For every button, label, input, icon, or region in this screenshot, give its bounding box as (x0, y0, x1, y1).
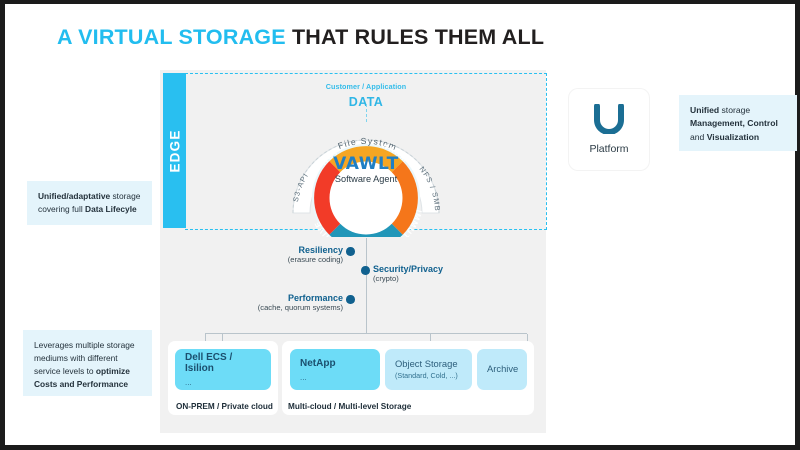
donut-chart-svg: S3-API File System NFS / SMB HOT WARM IM… (283, 103, 449, 237)
feature-dot-resiliency (346, 247, 355, 256)
data-source-subtitle: Customer / Application (326, 82, 407, 91)
feature-sub-security: (crypto) (373, 275, 533, 284)
callout-bottom-bold-4: Costs and Performance (34, 379, 128, 389)
storage-group-onprem-label: ON-PREM / Private cloud (176, 402, 273, 411)
storage-group-multicloud-label: Multi-cloud / Multi-level Storage (288, 402, 411, 411)
donut-hole (330, 162, 403, 235)
vawlt-u-logo-icon (592, 104, 626, 134)
platform-card-label: Platform (589, 143, 628, 155)
slide-canvas: A VIRTUAL STORAGE THAT RULES THEM ALL ED… (0, 0, 800, 450)
storage-bracket (205, 333, 527, 335)
callout-left-text-2: covering full (38, 204, 85, 214)
feature-label-security: Security/Privacy (crypto) (373, 264, 533, 284)
callout-right-bold-1: Unified (690, 105, 719, 115)
storage-chip-netapp-detail: ... (300, 373, 370, 382)
storage-chip-archive[interactable]: Archive (477, 349, 527, 390)
storage-chip-object-storage-name: Object Storage (395, 359, 458, 370)
edge-bar: EDGE (163, 73, 186, 228)
callout-left-bold-1: Unified/adaptative (38, 191, 110, 201)
storage-chip-archive-name: Archive (487, 364, 517, 375)
storage-chip-netapp[interactable]: NetApp ... (290, 349, 380, 390)
callout-unified-storage: Unified/adaptative storage covering full… (27, 181, 152, 225)
callout-left-bold-2: Data Lifecyle (85, 204, 137, 214)
feature-dot-security (361, 266, 370, 275)
page-title: A VIRTUAL STORAGE THAT RULES THEM ALL (57, 25, 544, 50)
callout-right-text-1: storage (719, 105, 750, 115)
callout-cost-performance: Leverages multiple storage mediums with … (23, 330, 152, 396)
feature-label-resiliency: Resiliency (erasure coding) (188, 245, 343, 265)
storage-chip-dell-ecs[interactable]: Dell ECS / Isilion ... (175, 349, 271, 390)
storage-lifecycle-donut: S3-API File System NFS / SMB HOT WARM IM… (283, 103, 449, 237)
feature-dot-performance (346, 295, 355, 304)
frame-left (0, 0, 5, 450)
storage-chip-netapp-name: NetApp (300, 358, 370, 369)
frame-bottom (0, 445, 800, 450)
feature-sub-resiliency: (erasure coding) (188, 256, 343, 265)
feature-sub-performance: (cache, quorum systems) (178, 304, 343, 313)
storage-chip-dell-ecs-name: Dell ECS / Isilion (185, 352, 261, 374)
callout-bottom-text-2: mediums with different (34, 353, 118, 363)
page-title-highlight: A VIRTUAL STORAGE (57, 25, 286, 49)
feature-label-performance: Performance (cache, quorum systems) (178, 293, 343, 313)
callout-left-text-1: storage (110, 191, 140, 201)
platform-card[interactable]: Platform (569, 89, 649, 170)
callout-right-text-3: and (690, 132, 707, 142)
callout-bottom-bold-3: optimize (96, 366, 130, 376)
frame-right (795, 0, 800, 450)
callout-bottom-text-3: service levels to (34, 366, 96, 376)
callout-bottom-text-1: Leverages multiple storage (34, 340, 135, 350)
feature-connector-line (366, 238, 367, 333)
storage-chip-dell-ecs-detail: ... (185, 378, 261, 387)
edge-bar-label: EDGE (167, 129, 182, 172)
callout-right-bold-2: Management, Control (690, 118, 778, 128)
callout-right-bold-3: Visualization (707, 132, 759, 142)
storage-chip-object-storage-sub: (Standard, Cold, ...) (395, 371, 458, 380)
frame-top (0, 0, 800, 4)
page-title-rest: THAT RULES THEM ALL (292, 25, 544, 49)
callout-unified-management: Unified storage Management, Control and … (679, 95, 797, 151)
storage-chip-object-storage[interactable]: Object Storage (Standard, Cold, ...) (385, 349, 472, 390)
